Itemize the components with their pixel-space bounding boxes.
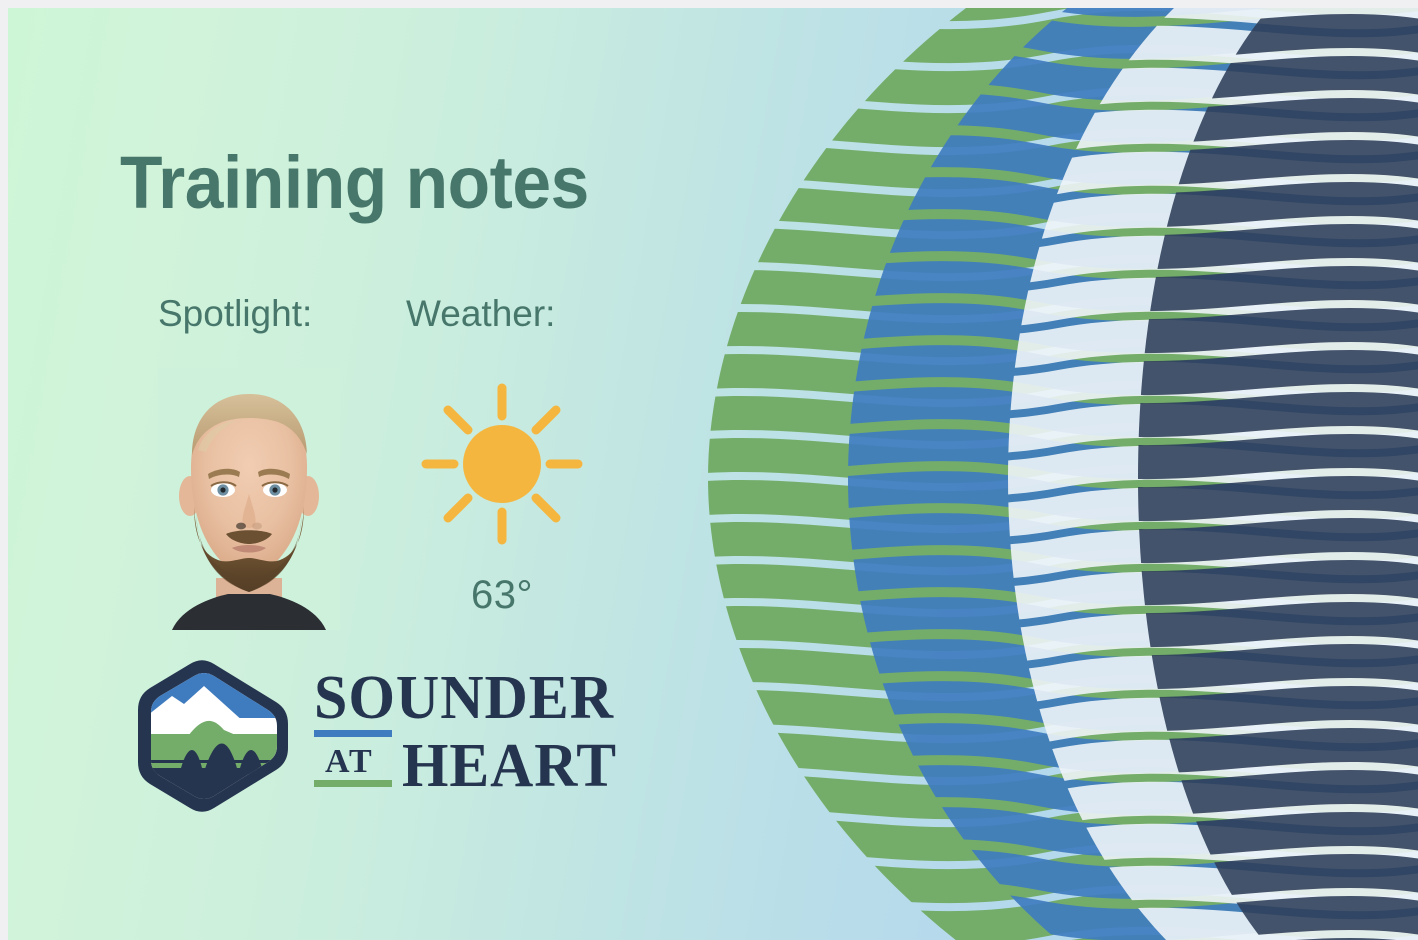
weather-label: Weather: (406, 293, 555, 335)
page-title: Training notes (120, 146, 589, 220)
logo-blue-rule (314, 730, 392, 737)
logo-badge-icon (126, 656, 296, 816)
logo-wordmark-at: AT (325, 743, 374, 780)
weather-block: 63° (406, 368, 598, 630)
logo-green-rule (314, 780, 392, 787)
wave-ribbon-pattern (648, 8, 1418, 940)
sun-icon (416, 378, 588, 555)
training-notes-card: Training notes Spotlight: Weather: (8, 8, 1418, 940)
logo-wordmark-sounder: SOUNDER (314, 664, 614, 732)
spotlight-label: Spotlight: (158, 293, 312, 335)
logo-wordmark-heart: HEART (402, 732, 617, 800)
sounder-at-heart-logo[interactable]: SOUNDER AT HEART (126, 656, 626, 816)
column-labels: Spotlight: Weather: (158, 293, 628, 341)
temperature-value: 63° (406, 573, 598, 618)
spotlight-headshot-photo (158, 368, 340, 630)
